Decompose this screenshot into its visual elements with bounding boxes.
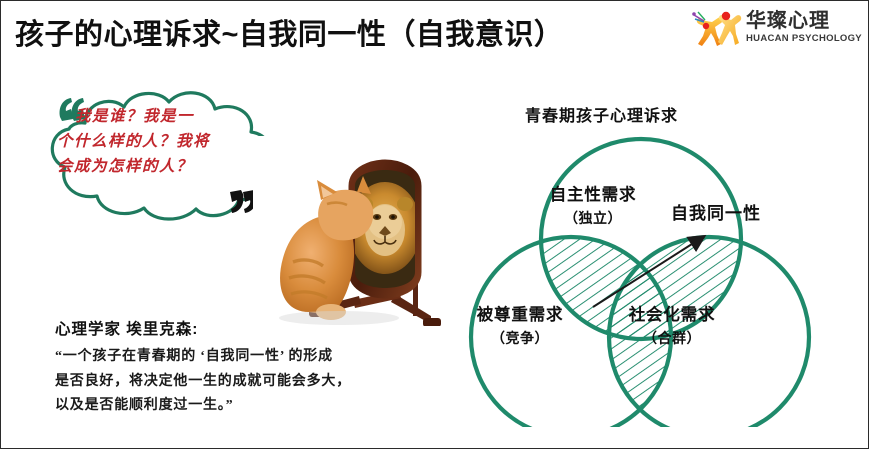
venn-diagram-title: 青春期孩子心理诉求 — [525, 102, 678, 126]
quote-line-2: 是否良好，将决定他一生的成就可能会多大， — [55, 370, 447, 395]
quote-body: “一个孩子在青春期的 ‘自我同一性’ 的形成 是否良好，将决定他一生的成就可能会… — [55, 345, 447, 419]
quote-line-3: 以及是否能顺利度过一生。” — [55, 394, 447, 419]
page-title: 孩子的心理诉求~自我同一性（自我意识） — [15, 11, 563, 53]
cloud-quote-text: 我是谁？我是一 个什么样的人？我将 会成为怎样的人？ — [57, 104, 269, 179]
cloud-line-2: 个什么样的人？我将 — [57, 129, 269, 154]
logo-english-name: HUACAN PSYCHOLOGY — [746, 34, 862, 44]
logo-text-group: 华璨心理 HUACAN PSYCHOLOGY — [746, 11, 862, 44]
logo-chinese-name: 华璨心理 — [746, 11, 862, 31]
logo-figure-icon — [690, 6, 744, 48]
quote-author-label: 心理学家 埃里克森: — [55, 317, 447, 339]
brand-logo: 华璨心理 HUACAN PSYCHOLOGY — [690, 5, 862, 49]
venn-diagram — [441, 127, 841, 427]
kitten-mirror-lion-photo — [253, 136, 445, 326]
erikson-quote-block: 心理学家 埃里克森: “一个孩子在青春期的 ‘自我同一性’ 的形成 是否良好，将… — [55, 317, 447, 419]
quote-line-1: “一个孩子在青春期的 ‘自我同一性’ 的形成 — [55, 345, 447, 370]
cloud-line-3: 会成为怎样的人？ — [57, 154, 269, 179]
slide-canvas: 孩子的心理诉求~自我同一性（自我意识） — [0, 0, 869, 449]
cloud-line-1: 我是谁？我是一 — [57, 104, 269, 129]
